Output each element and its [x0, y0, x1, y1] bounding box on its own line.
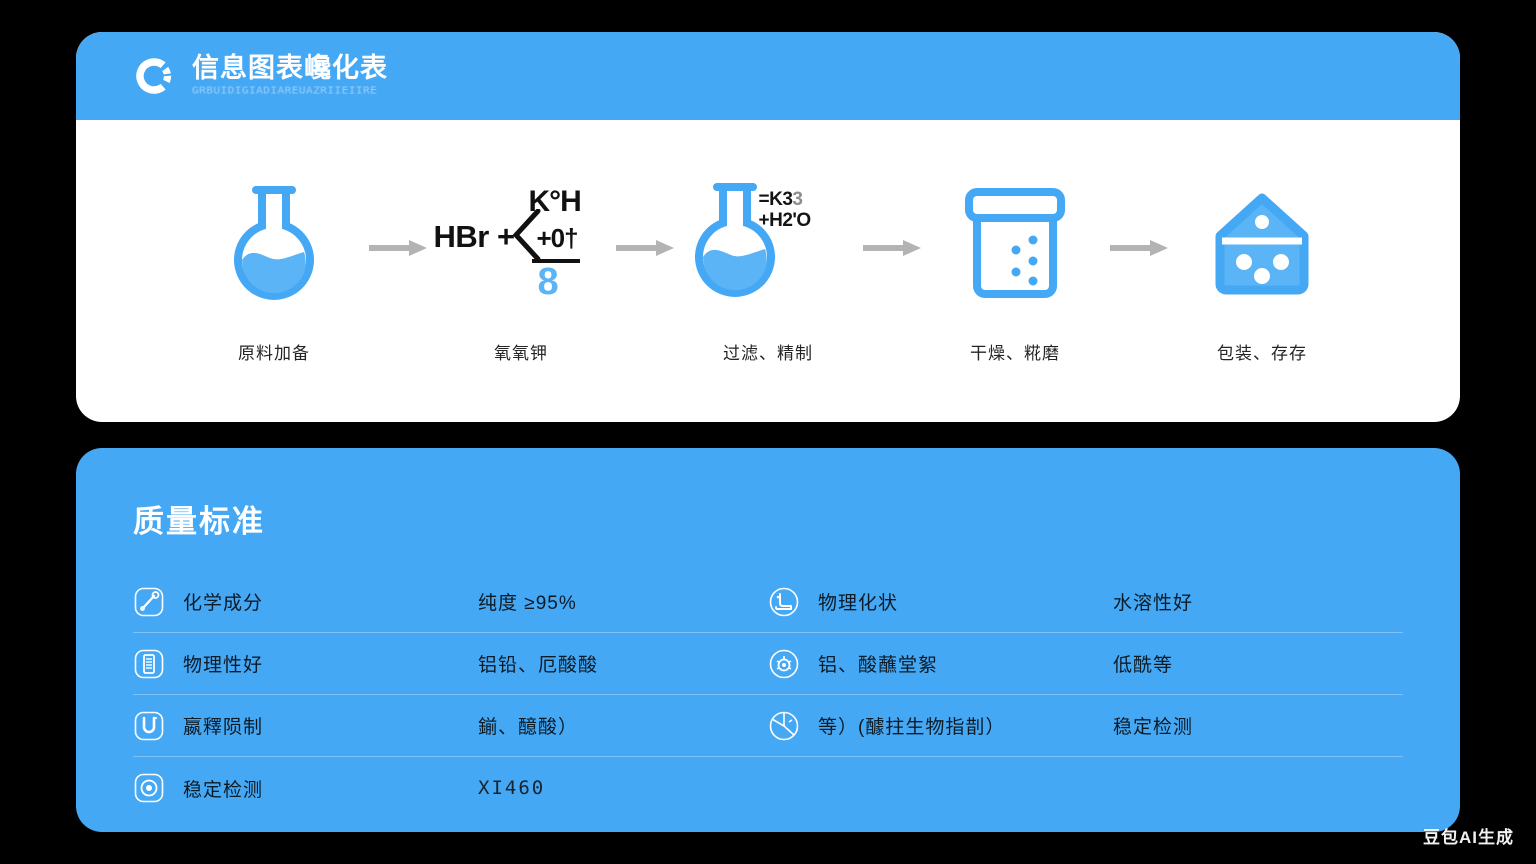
formula-bottom-term: 8 — [538, 261, 559, 304]
flow-step-1: 原料加备 — [187, 179, 362, 364]
quality-value: 鎆、醷酸） — [478, 712, 578, 739]
flow-step-3-label: 过滤、精制 — [723, 339, 813, 364]
quality-entry: 化学成分 纯度 ≥95% — [133, 571, 768, 632]
quality-value: 水溶性好 — [1113, 588, 1193, 615]
table-row: 化学成分 纯度 ≥95% 物理化状 水溶性好 — [133, 571, 1403, 633]
quality-value: 低酰等 — [1113, 650, 1173, 677]
process-flow-steps: 原料加备 HBr + K°H — [76, 120, 1460, 422]
flask-annotation: =K33 +H2'O — [759, 189, 811, 233]
flask-annotation-line1-dim: 3 — [792, 189, 802, 210]
gear-icon — [768, 648, 800, 680]
quality-name: 物理化状 — [818, 588, 1113, 615]
arrow-right-icon — [609, 183, 681, 313]
quality-standards-table: 化学成分 纯度 ≥95% 物理化状 水溶性好 — [133, 571, 1403, 819]
warehouse-package-icon — [1175, 179, 1350, 309]
brand-text-block: 信息图表巉化表 GRBUIDIGIADIAREUAZRIIEIIRE — [192, 54, 388, 98]
quality-name: 化学成分 — [183, 588, 478, 615]
boot-shape-icon — [768, 586, 800, 618]
table-row: 稳定检测 XI460 — [133, 757, 1403, 819]
test-tube-dropper-icon — [133, 586, 165, 618]
round-bottom-flask-icon — [187, 179, 362, 309]
flow-step-5-label: 包装、存存 — [1217, 339, 1307, 364]
ai-watermark: 豆包AI生成 — [1423, 823, 1514, 848]
flask-annotation-line1: =K3 — [759, 189, 793, 210]
quality-name: 等）(醵拄生物指剒） — [818, 712, 1113, 739]
quality-value: 铝铅、厄酸酸 — [478, 650, 598, 677]
quality-value: 稳定检测 — [1113, 712, 1193, 739]
formula-reactant: HBr + — [434, 219, 515, 255]
arrow-right-icon — [362, 183, 434, 313]
pie-chart-icon — [768, 710, 800, 742]
arrow-right-icon — [856, 183, 928, 313]
magnet-u-icon — [133, 710, 165, 742]
quality-standards-title: 质量标准 — [133, 496, 1403, 541]
quality-name: 铝、酸蘸堂絮 — [818, 650, 1113, 677]
flow-step-3: =K33 +H2'O 过滤、精制 — [681, 179, 856, 364]
quality-name: 嬴釋陨制 — [183, 712, 478, 739]
page-title: 信息图表巉化表 — [192, 54, 388, 82]
quality-standards-card: 质量标准 化学成分 纯度 ≥95% — [76, 448, 1460, 832]
quality-entry: 稳定检测 XI460 — [133, 757, 768, 819]
flow-step-2-label: 氧氧钾 — [494, 339, 548, 364]
chemical-formula-icon: HBr + K°H +0† 8 — [434, 179, 609, 309]
quality-entry: 等）(醵拄生物指剒） 稳定检测 — [768, 695, 1403, 756]
jar-container-icon — [928, 179, 1103, 309]
c-donut-logo-icon — [133, 55, 175, 97]
brand-header: 信息图表巉化表 GRBUIDIGIADIAREUAZRIIEIIRE — [76, 32, 1460, 120]
brand-subtitle: GRBUIDIGIADIAREUAZRIIEIIRE — [192, 85, 388, 96]
quality-name: 稳定检测 — [183, 775, 478, 802]
flow-step-4-label: 干燥、糀磨 — [970, 339, 1060, 364]
quality-entry: 物理性好 铝铅、厄酸酸 — [133, 633, 768, 694]
quality-entry: 物理化状 水溶性好 — [768, 571, 1403, 632]
flow-step-1-label: 原料加备 — [238, 339, 310, 364]
formula-mid-term: +0† — [537, 223, 578, 254]
document-list-icon — [133, 648, 165, 680]
target-circle-icon — [133, 772, 165, 804]
quality-value: XI460 — [478, 777, 545, 799]
flow-step-5: 包装、存存 — [1175, 179, 1350, 364]
table-row: 嬴釋陨制 鎆、醷酸） 等）(醵拄生物指剒） 稳定检测 — [133, 695, 1403, 757]
quality-name: 物理性好 — [183, 650, 478, 677]
flow-step-2: HBr + K°H +0† 8 氧氧钾 — [434, 179, 609, 364]
flow-step-4: 干燥、糀磨 — [928, 179, 1103, 364]
slide-canvas: 信息图表巉化表 GRBUIDIGIADIAREUAZRIIEIIRE 原料加备 — [0, 0, 1536, 864]
quality-entry: 嬴釋陨制 鎆、醷酸） — [133, 695, 768, 756]
quality-entry: 铝、酸蘸堂絮 低酰等 — [768, 633, 1403, 694]
table-row: 物理性好 铝铅、厄酸酸 — [133, 633, 1403, 695]
arrow-right-icon — [1103, 183, 1175, 313]
process-flow-card: 信息图表巉化表 GRBUIDIGIADIAREUAZRIIEIIRE 原料加备 — [76, 32, 1460, 422]
flask-annotation-line2: +H2'O — [759, 210, 811, 231]
quality-value: 纯度 ≥95% — [478, 588, 577, 615]
